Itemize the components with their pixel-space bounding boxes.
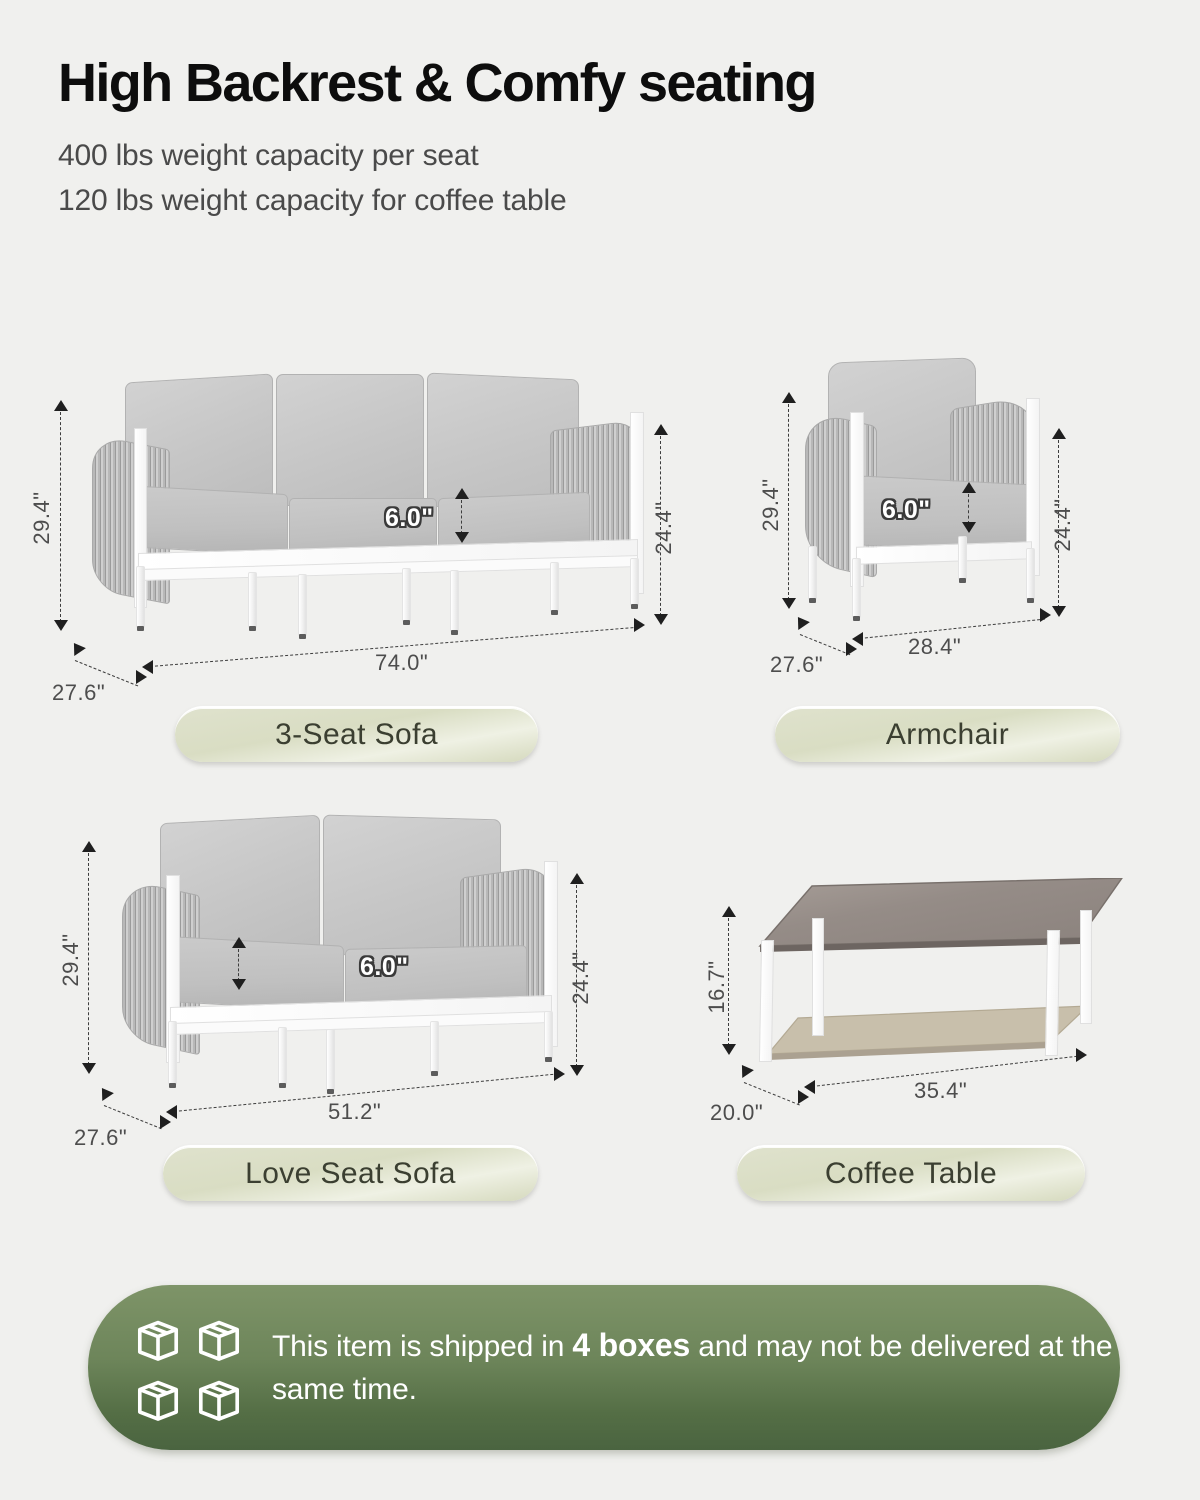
shipping-banner-text: This item is shipped in 4 boxes and may … <box>272 1323 1120 1411</box>
loveseat-illustration: 6.0" 29.4" 24.4" 27.6" 51.2" <box>60 805 680 1165</box>
sofa-leg-6 <box>550 562 559 612</box>
loveseat-leg-5 <box>544 1011 553 1059</box>
table-height-label: 16.7" <box>704 948 730 1026</box>
box-icon <box>130 1370 186 1426</box>
loveseat-seat-thickness-label: 6.0" <box>360 953 409 982</box>
sofa-leg-7 <box>630 558 639 606</box>
capacity-line-table: 120 lbs weight capacity for coffee table <box>58 179 1142 223</box>
loveseat-height-arrow-down <box>82 1063 96 1074</box>
sofa-width-arrow-right <box>634 618 645 632</box>
sofa-width-arrow-left <box>142 660 153 674</box>
page-title: High Backrest & Comfy seating <box>58 54 1142 112</box>
sofa-illustration: 6.0" 29.4" 24.4" 27.6" 74.0" <box>30 350 690 730</box>
product-diagram-grid: 6.0" 29.4" 24.4" 27.6" 74.0" <box>0 330 1200 1250</box>
armchair-leg-back-right <box>958 536 967 580</box>
armchair-leg-front-left <box>852 558 861 618</box>
shipping-banner: This item is shipped in 4 boxes and may … <box>88 1285 1120 1450</box>
coffee-table-illustration: 16.7" 20.0" 35.4" <box>700 870 1160 1160</box>
sofa-height-dash <box>60 412 61 622</box>
armchair-seat-arrow-down <box>962 522 976 533</box>
armchair-arm-height-label: 24.4" <box>1050 482 1076 568</box>
capacity-line-seat: 400 lbs weight capacity per seat <box>58 134 1142 178</box>
table-leg-back-right <box>1080 910 1092 1024</box>
table-depth-arrow-a <box>736 1061 754 1078</box>
loveseat-seat-arrow-down <box>232 979 246 990</box>
sofa-seat-dash <box>461 500 462 534</box>
armchair-width-arrow-left <box>852 632 863 646</box>
sofa-leg-4 <box>402 568 411 622</box>
product-diagram-love-seat-sofa: 6.0" 29.4" 24.4" 27.6" 51.2" <box>60 805 680 1165</box>
sofa-depth-label: 27.6" <box>52 680 105 706</box>
armchair-leg-front-right <box>1026 548 1035 600</box>
table-leg-back-left <box>812 918 824 1036</box>
shipping-box-icon-group <box>130 1310 248 1426</box>
loveseat-depth-arrow-a <box>96 1084 114 1101</box>
armchair-depth-arrow-a <box>792 613 810 630</box>
box-icon <box>191 1310 247 1366</box>
table-width-arrow-right <box>1076 1048 1087 1062</box>
sofa-back-height-label: 29.4" <box>29 475 55 561</box>
armchair-seat-arrow-up <box>962 482 976 493</box>
box-icon <box>130 1310 186 1366</box>
loveseat-arm-arrow-down <box>570 1065 584 1076</box>
loveseat-height-dash <box>88 853 89 1065</box>
armchair-height-arrow-up <box>782 392 796 403</box>
table-height-arrow-up <box>722 906 736 917</box>
product-label-text: Love Seat Sofa <box>245 1157 456 1191</box>
sofa-arm-arrow-up <box>654 424 668 435</box>
table-width-arrow-left <box>804 1080 815 1094</box>
sofa-width-label: 74.0" <box>375 650 428 676</box>
armchair-seat-dash <box>968 494 969 524</box>
product-diagram-armchair: 6.0" 29.4" 24.4" 27.6" 28.4" <box>730 350 1170 730</box>
loveseat-arm-arrow-up <box>570 873 584 884</box>
loveseat-seat-dash <box>238 949 239 981</box>
shipping-box-count: 4 boxes <box>572 1327 690 1363</box>
product-diagram-coffee-table: 16.7" 20.0" 35.4" <box>700 870 1160 1160</box>
loveseat-leg-4 <box>430 1021 439 1073</box>
sofa-leg-3 <box>298 574 307 636</box>
header-block: High Backrest & Comfy seating 400 lbs we… <box>0 0 1200 223</box>
armchair-back-height-label: 29.4" <box>758 462 784 548</box>
armchair-height-arrow-down <box>782 598 796 609</box>
table-leg-front-right <box>1045 930 1060 1056</box>
product-diagram-3-seat-sofa: 6.0" 29.4" 24.4" 27.6" 74.0" <box>30 350 690 730</box>
armchair-height-dash <box>788 404 789 600</box>
loveseat-width-arrow-left <box>166 1105 177 1119</box>
product-label-text: Coffee Table <box>825 1157 997 1191</box>
box-icon <box>191 1370 247 1426</box>
product-label-coffee-table: Coffee Table <box>737 1145 1085 1201</box>
table-depth-label: 20.0" <box>710 1100 763 1126</box>
loveseat-leg-2 <box>278 1027 287 1085</box>
sofa-arm-arrow-down <box>654 614 668 625</box>
product-label-text: Armchair <box>886 718 1009 752</box>
table-height-arrow-down <box>722 1044 736 1055</box>
product-label-3-seat-sofa: 3-Seat Sofa <box>175 706 538 762</box>
product-label-armchair: Armchair <box>775 706 1120 762</box>
sofa-seat-arrow-up <box>455 488 469 499</box>
loveseat-width-label: 51.2" <box>328 1099 381 1125</box>
loveseat-leg-1 <box>168 1021 177 1085</box>
table-width-label: 35.4" <box>914 1078 967 1104</box>
sofa-seat-cushion-left <box>140 486 288 556</box>
sofa-leg-2 <box>248 572 257 628</box>
sofa-leg-5 <box>450 570 459 632</box>
sofa-seat-arrow-down <box>455 532 469 543</box>
sofa-depth-arrow-a <box>68 639 86 656</box>
sofa-arm-height-label: 24.4" <box>651 485 677 571</box>
armchair-depth-label: 27.6" <box>770 652 823 678</box>
sofa-back-cushion-center <box>276 374 424 506</box>
sofa-height-arrow-down <box>54 620 68 631</box>
armchair-illustration: 6.0" 29.4" 24.4" 27.6" 28.4" <box>730 350 1170 730</box>
shipping-text-before: This item is shipped in <box>272 1330 572 1363</box>
armchair-arm-arrow-down <box>1052 606 1066 617</box>
loveseat-width-arrow-right <box>554 1067 565 1081</box>
sofa-seat-thickness-label: 6.0" <box>385 504 434 533</box>
loveseat-leg-3 <box>326 1029 335 1091</box>
armchair-leg-back-left <box>808 546 817 600</box>
loveseat-seat-arrow-up <box>232 937 246 948</box>
loveseat-height-arrow-up <box>82 841 96 852</box>
loveseat-seat-cushion-left <box>172 936 344 1012</box>
product-label-text: 3-Seat Sofa <box>275 718 438 752</box>
table-leg-front-left <box>759 940 774 1062</box>
armchair-seat-thickness-label: 6.0" <box>882 496 931 525</box>
armchair-arm-arrow-up <box>1052 428 1066 439</box>
armchair-width-arrow-right <box>1040 608 1051 622</box>
sofa-height-arrow-up <box>54 400 68 411</box>
capacity-subtitle: 400 lbs weight capacity per seat 120 lbs… <box>58 134 1142 223</box>
loveseat-depth-label: 27.6" <box>74 1125 127 1151</box>
product-label-love-seat-sofa: Love Seat Sofa <box>163 1145 538 1201</box>
armchair-width-label: 28.4" <box>908 634 961 660</box>
sofa-leg-1 <box>136 566 145 628</box>
loveseat-back-height-label: 29.4" <box>58 917 84 1003</box>
loveseat-arm-height-label: 24.4" <box>568 935 594 1021</box>
